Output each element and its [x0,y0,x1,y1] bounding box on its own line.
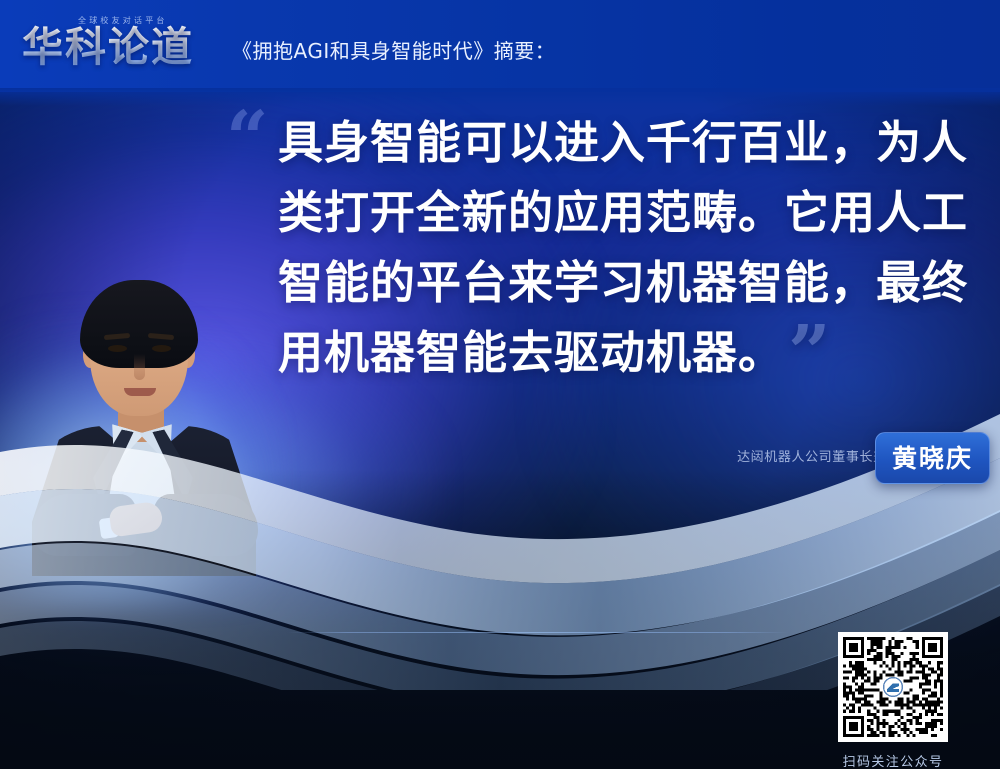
portrait-eye-right [152,345,171,352]
portrait-nose [134,354,145,380]
quote-line-4: 用机器智能去驱动机器。 [278,326,784,379]
footer-divider [288,632,788,633]
brand-logo[interactable]: 全球校友对话平台 华科论道 [22,13,218,79]
quote-line-3: 智能的平台来学习机器智能，最终 [278,248,958,318]
quote-line-1: 具身智能可以进入千行百业，为人 [278,108,958,178]
logo-wordmark: 华科论道 [22,21,194,73]
quote-block: “ 具身智能可以进入千行百业，为人 类打开全新的应用范畴。它用人工 智能的平台来… [278,108,958,388]
quote-open-mark: “ [226,112,269,166]
attribution: 达闼机器人公司董事长兼CEO 黄晓庆 [737,446,916,465]
portrait-eye-left [108,345,127,352]
poster-root: 全球校友对话平台 华科论道 《拥抱AGI和具身智能时代》摘要： “ 具身智能可以… [0,0,1000,769]
portrait-mouth [124,388,156,396]
qr-code-icon[interactable] [838,632,948,742]
speaker-name-badge: 黄晓庆 [875,432,990,484]
page-title: 《拥抱AGI和具身智能时代》摘要： [232,35,555,64]
quote-line-4-wrap: 用机器智能去驱动机器。” [278,318,958,388]
qr-section: 扫码关注公众号 [838,632,948,769]
quote-line-2: 类打开全新的应用范畴。它用人工 [278,178,958,248]
header-bar: 全球校友对话平台 华科论道 《拥抱AGI和具身智能时代》摘要： [0,0,1000,92]
qr-caption: 扫码关注公众号 [838,751,948,769]
